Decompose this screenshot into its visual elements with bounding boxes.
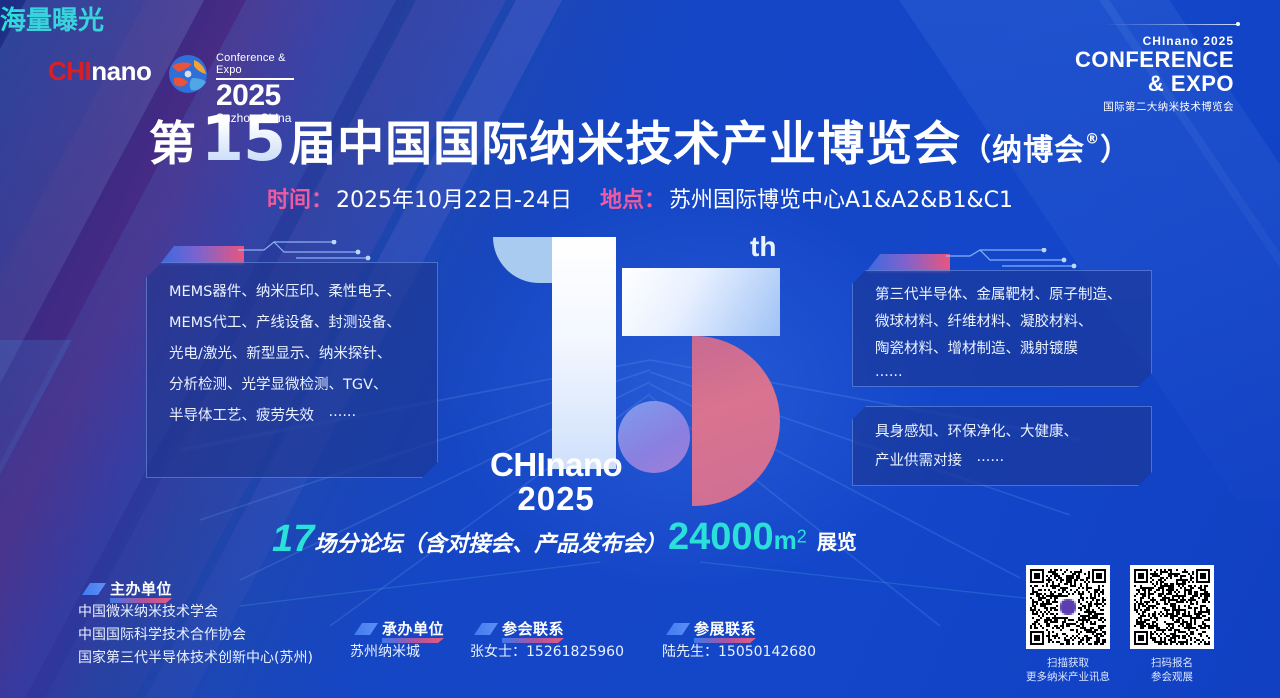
qr-code-register[interactable]	[1130, 565, 1214, 649]
topic-line: 陶瓷材料、增材制造、溅射镀膜	[875, 336, 1131, 363]
topic-line: ······	[875, 363, 1131, 390]
date-value: 2025年10月22日-24日	[336, 188, 572, 213]
heading-tab-icon	[82, 583, 106, 595]
registered-mark-icon: ®	[1085, 131, 1100, 147]
topic-line: MEMS代工、产线设备、封测设备、	[169, 308, 417, 339]
area-unit: m	[774, 525, 797, 555]
exhibit-contact: 陆先生：15050142680	[662, 641, 816, 664]
digit-five-top-bar	[622, 268, 780, 336]
panel-tab-right	[866, 254, 950, 272]
highlight-forums: 17场分论坛（含对接会、产品发布会）	[272, 518, 666, 561]
header-right-expo: & EXPO	[1075, 72, 1234, 96]
attend-contact: 张女士：15261825960	[470, 641, 624, 664]
title-main: 届中国国际纳米技术产业博览会	[289, 117, 961, 172]
topic-line: MEMS器件、纳米压印、柔性电子、	[169, 277, 417, 308]
topics-panel-left: MEMS器件、纳米压印、柔性电子、 MEMS代工、产线设备、封测设备、 光电/激…	[146, 262, 438, 478]
exhibit-heading: 参展联系	[694, 620, 756, 638]
host-value: 苏州纳米城	[350, 641, 420, 664]
chinano-wordmark: CHInano	[48, 56, 151, 87]
qr-caption-info: 扫描获取 更多纳米产业讯息	[1026, 656, 1110, 684]
center-brand-lockup: CHInano 2025	[490, 448, 622, 517]
brand-logo-lockup: CHInano Conference & Expo 2025 Suzhou Ch…	[40, 28, 300, 90]
venue-label: 地点：	[600, 188, 666, 213]
title-paren-close: ）	[1100, 133, 1131, 168]
area-text: 展览	[817, 530, 857, 554]
digit-one-bar	[552, 237, 616, 469]
forums-count: 17	[272, 518, 314, 560]
title-block: 第15届中国国际纳米技术产业博览会（纳博会®） 时间：2025年10月22日-2…	[0, 108, 1280, 214]
globe-icon	[166, 52, 210, 96]
header-right-brand: CHInano 2025	[1075, 34, 1234, 48]
topic-line: 半导体工艺、疲劳失效 ······	[169, 401, 417, 432]
organizer-heading: 主办单位	[110, 580, 172, 598]
topics-panel-right-top: 第三代半导体、金属靶材、原子制造、 微球材料、纤维材料、凝胶材料、 陶瓷材料、增…	[852, 270, 1152, 387]
panel-tab-left	[160, 246, 244, 264]
qr-caption-line: 参会观展	[1130, 670, 1214, 684]
page-title: 第15届中国国际纳米技术产业博览会（纳博会®）	[0, 108, 1280, 170]
organizer-item: 国家第三代半导体技术创新中心(苏州)	[78, 647, 313, 670]
event-meta: 时间：2025年10月22日-24日地点：苏州国际博览中心A1&A2&B1&C1	[0, 182, 1280, 214]
bg-band	[0, 340, 72, 698]
organizer-list: 中国微米纳米技术学会 中国国际科学技术合作协会 国家第三代半导体技术创新中心(苏…	[78, 601, 313, 670]
area-unit-superscript: 2	[797, 527, 807, 547]
digit-five-dot-circle	[618, 401, 690, 473]
organizer-item: 中国国际科学技术合作协会	[78, 624, 313, 647]
forums-text: 场分论坛（含对接会、产品发布会）	[314, 532, 666, 557]
topic-line: 具身感知、环保净化、大健康、	[875, 418, 1131, 447]
header-right-block: CHInano 2025 CONFERENCE & EXPO 国际第二大纳米技术…	[1075, 34, 1234, 114]
conference-poster: CHInano Conference & Expo 2025 Suzhou Ch…	[0, 0, 1280, 698]
date-label: 时间：	[267, 188, 333, 213]
header-right-conference: CONFERENCE	[1075, 48, 1234, 72]
digit-one-flag-shape	[493, 237, 553, 283]
topic-line: 微球材料、纤维材料、凝胶材料、	[875, 309, 1131, 336]
topic-line: 第三代半导体、金属靶材、原子制造、	[875, 282, 1131, 309]
title-edition-number: 15	[197, 102, 289, 175]
organizer-item: 中国微米纳米技术学会	[78, 601, 313, 624]
qr-caption-line: 扫描获取	[1026, 656, 1110, 670]
exhibit-heading-block: 参展联系	[694, 618, 756, 639]
qr-block-register[interactable]: 扫码报名 参会观展	[1130, 565, 1214, 684]
conference-expo-label: Conference & Expo	[216, 52, 300, 76]
topic-line: 产业供需对接 ······	[875, 447, 1131, 476]
chinano-wordmark-nano: nano	[91, 56, 151, 86]
digit-five-semicircle	[692, 336, 780, 506]
organizer-heading-block: 主办单位	[110, 578, 172, 599]
venue-value: 苏州国际博览中心A1&A2&B1&C1	[669, 188, 1013, 213]
topic-line: 光电/激光、新型显示、纳米探针、	[169, 339, 417, 370]
area-value: 24000	[668, 516, 774, 558]
ordinal-suffix: th	[750, 231, 776, 263]
qr-caption-register: 扫码报名 参会观展	[1130, 656, 1214, 684]
title-prefix: 第	[149, 117, 197, 172]
qr-block-info[interactable]: 扫描获取 更多纳米产业讯息	[1026, 565, 1110, 684]
highlight-area: 24000m2展览	[668, 516, 857, 559]
title-paren-open: （纳博会	[961, 133, 1085, 168]
host-heading: 承办单位	[382, 620, 444, 638]
qr-caption-line: 扫码报名	[1130, 656, 1214, 670]
chinano-wordmark-chi: CHI	[48, 56, 91, 86]
decor-tick-line	[1104, 24, 1240, 25]
qr-caption-line: 更多纳米产业讯息	[1026, 670, 1110, 684]
attend-heading: 参会联系	[502, 620, 564, 638]
attend-heading-block: 参会联系	[502, 618, 564, 639]
center-brand-year: 2025	[490, 481, 622, 517]
center-brand-name: CHInano	[490, 448, 622, 481]
topic-line: 分析检测、光学显微检测、TGV、	[169, 370, 417, 401]
qr-code-info[interactable]	[1026, 565, 1110, 649]
host-heading-block: 承办单位	[382, 618, 444, 639]
topics-panel-right-bottom: 具身感知、环保净化、大健康、 产业供需对接 ······	[852, 406, 1152, 486]
